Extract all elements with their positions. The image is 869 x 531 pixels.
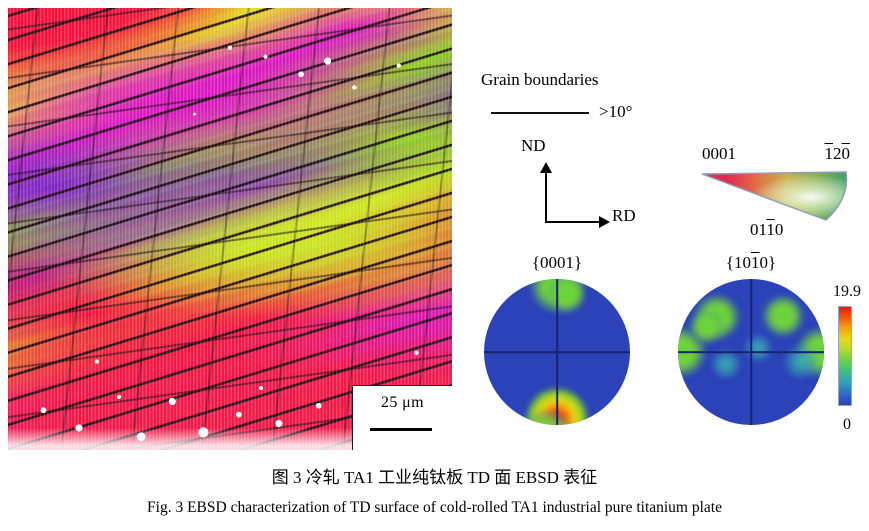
colorbar-min-label: 0 <box>822 416 869 434</box>
pole-figure-1010-disc <box>678 279 824 425</box>
grain-boundary-threshold-label: >10° <box>599 102 632 122</box>
intensity-colorbar: 19.9 0 <box>826 285 868 430</box>
pole-figure-0001: {0001} <box>484 279 630 425</box>
axis-line-vertical <box>545 170 547 223</box>
ipf-label-1210: 120 <box>825 144 851 164</box>
unindexed-pixels <box>8 8 452 450</box>
grain-boundaries-legend-title: Grain boundaries <box>481 70 599 90</box>
ipf-0110-bar: 1 <box>766 220 775 239</box>
pole-figure-peak <box>745 335 771 361</box>
ipf-triangle <box>700 168 850 224</box>
ipf-0110-pre: 01 <box>750 220 766 239</box>
arrow-right-icon <box>599 216 610 228</box>
pole-figure-1010-axis-horizontal <box>678 351 824 353</box>
pole-figure-0001-axis-horizontal <box>484 351 630 353</box>
pole-figure-peak <box>690 311 722 343</box>
scale-bar: 25 μm <box>352 385 452 450</box>
figure-3-ebsd: 25 μm Grain boundaries >10° ND RD 0001 1… <box>0 0 869 531</box>
figure-caption-english: Fig. 3 EBSD characterization of TD surfa… <box>0 499 869 517</box>
grain-boundary-legend-line <box>491 112 589 114</box>
pole-figure-1010-bar: 1 <box>751 253 760 272</box>
ipf-0110-post: 0 <box>775 220 784 239</box>
sample-axes: ND RD <box>500 142 650 237</box>
scale-bar-label: 25 μm <box>353 394 452 412</box>
pole-figure-peak <box>712 350 740 378</box>
pole-figure-0001-disc <box>484 279 630 425</box>
ipf-triangle-svg <box>700 168 850 224</box>
pole-figure-1010: {1010} <box>678 279 824 425</box>
pole-figure-1010-title: {1010} <box>678 253 824 273</box>
pole-figure-0001-title: {0001} <box>484 253 630 273</box>
ipf-label-0001: 0001 <box>702 144 736 164</box>
ipf-1210-bar1: 1 <box>825 144 834 163</box>
colorbar-max-label: 19.9 <box>822 283 869 301</box>
figure-caption-chinese: 图 3 冷轧 TA1 工业纯钛板 TD 面 EBSD 表征 <box>0 463 869 488</box>
ipf-label-0110: 0110 <box>750 220 783 240</box>
scale-bar-line <box>370 428 432 431</box>
ebsd-orientation-map <box>8 8 452 450</box>
axis-label-nd: ND <box>521 136 546 156</box>
axis-line-horizontal <box>545 221 601 223</box>
colorbar-gradient <box>838 306 852 406</box>
ipf-1210-bar2: 0 <box>842 144 851 163</box>
ipf-color-key: 0001 120 <box>698 144 850 244</box>
axis-label-rd: RD <box>612 206 636 226</box>
pole-figure-peak <box>763 296 803 336</box>
pole-figure-peak <box>549 279 585 312</box>
ipf-1210-mid: 2 <box>833 144 842 163</box>
